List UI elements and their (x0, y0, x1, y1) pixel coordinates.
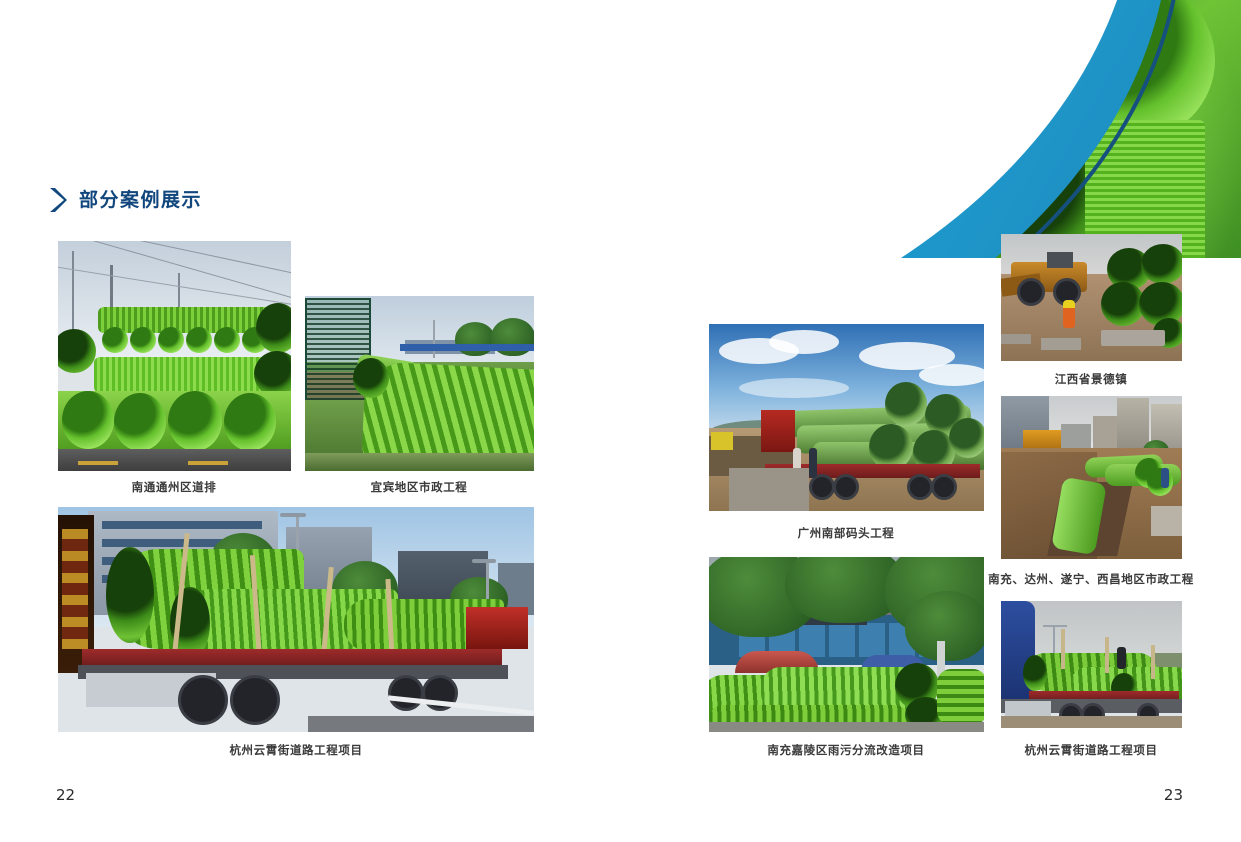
chevron-right-icon (48, 186, 68, 214)
photo-guangzhou-south-port[interactable] (709, 324, 984, 511)
photo-nanchong-jialing-rain-sewage[interactable] (709, 557, 984, 732)
photo-caption: 广州南部码头工程 (798, 525, 895, 541)
page-number-left: 22 (56, 786, 75, 804)
photo-nanchong-dazhou-suining-xichang[interactable] (1001, 396, 1182, 559)
photo-caption: 江西省景德镇 (1055, 371, 1128, 387)
photo-caption: 宜宾地区市政工程 (371, 479, 468, 495)
photo-nantong-tongzhou[interactable] (58, 241, 291, 471)
photo-caption: 南通通州区道排 (132, 479, 217, 495)
section-title: 部分案例展示 (79, 191, 202, 210)
photo-caption: 杭州云霄街道路工程项目 (229, 742, 362, 758)
photo-caption: 杭州云霄街道路工程项目 (1024, 742, 1157, 758)
section-heading: 部分案例展示 (48, 186, 202, 214)
photo-hangzhou-yunxiao-road[interactable] (58, 507, 534, 732)
photo-jiangxi-jingdezhen[interactable] (1001, 234, 1182, 361)
page-number-right: 23 (1164, 786, 1183, 804)
photo-caption: 南充嘉陵区雨污分流改造项目 (767, 742, 924, 758)
photo-caption: 南充、达州、遂宁、西昌地区市政工程 (988, 571, 1194, 587)
brochure-page: 部分案例展示 (0, 0, 1241, 842)
photo-hangzhou-yunxiao-road-2[interactable] (1001, 601, 1182, 728)
photo-yibin-municipal[interactable] (305, 296, 534, 471)
